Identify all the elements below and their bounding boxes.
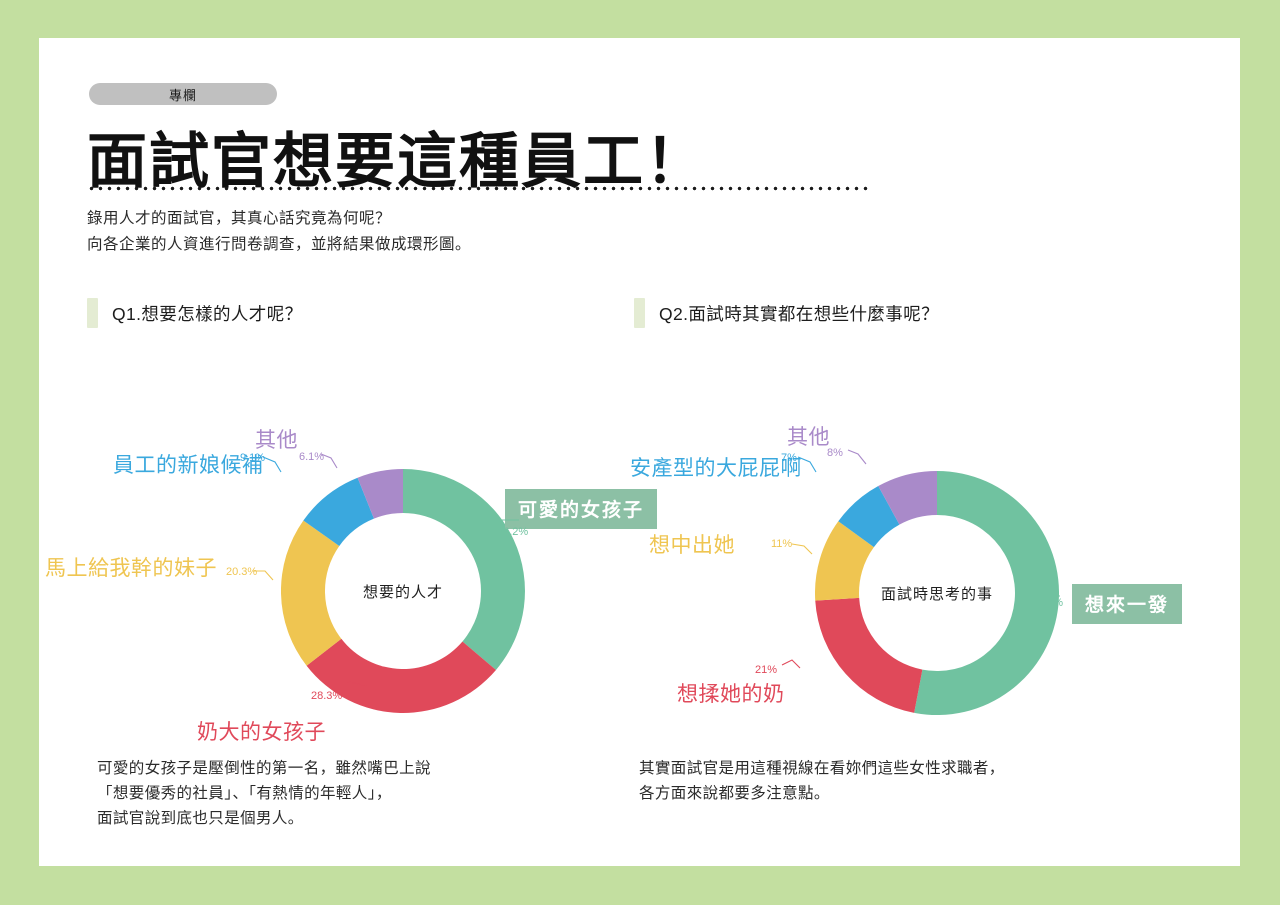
dotted-divider <box>87 186 871 191</box>
content-card: 專欄 面試官想要這種員工！ 錄用人才的面試官，其真心話究竟為何呢？ 向各企業的人… <box>39 38 1240 866</box>
caption-q2-line-2: 各方面來說都要多注意點。 <box>639 781 1005 806</box>
leader-lines-q2 <box>594 368 1194 788</box>
question-heading-q2: Q2.面試時其實都在想些什麼事呢？ <box>634 298 939 328</box>
caption-q2-line-1: 其實面試官是用這種視線在看妳們這些女性求職者， <box>639 756 1005 781</box>
page-background: 專欄 面試官想要這種員工！ 錄用人才的面試官，其真心話究竟為何呢？ 向各企業的人… <box>0 0 1280 905</box>
category-tag: 專欄 <box>89 83 277 105</box>
category-tag-label: 專欄 <box>169 85 197 104</box>
caption-q1-line-1: 可愛的女孩子是壓倒性的第一名，雖然嘴巴上說 <box>97 756 431 781</box>
caption-q1: 可愛的女孩子是壓倒性的第一名，雖然嘴巴上說 「想要優秀的社員」、「有熱情的年輕人… <box>97 756 431 831</box>
accent-bar-icon <box>634 298 645 328</box>
lede-line-2: 向各企業的人資進行問卷調查，並將結果做成環形圖。 <box>87 232 471 258</box>
chart-panel-q1: 想要的人才 其他 員工的新娘候補 馬上給我幹的妹子 奶大的女孩子 可愛的女孩子 … <box>49 368 649 788</box>
caption-q1-line-3: 面試官說到底也只是個男人。 <box>97 806 431 831</box>
leader-lines-q1 <box>49 368 649 788</box>
caption-q2: 其實面試官是用這種視線在看妳們這些女性求職者， 各方面來說都要多注意點。 <box>639 756 1005 806</box>
lede-paragraph: 錄用人才的面試官，其真心話究竟為何呢？ 向各企業的人資進行問卷調查，並將結果做成… <box>87 206 471 258</box>
accent-bar-icon <box>87 298 98 328</box>
question-heading-q1-label: Q1.想要怎樣的人才呢？ <box>112 301 303 326</box>
question-heading-q2-label: Q2.面試時其實都在想些什麼事呢？ <box>659 301 939 326</box>
lede-line-1: 錄用人才的面試官，其真心話究竟為何呢？ <box>87 206 471 232</box>
caption-q1-line-2: 「想要優秀的社員」、「有熱情的年輕人」， <box>97 781 431 806</box>
chart-panel-q2: 面試時思考的事 其他 安產型的大屁屁啊 想中出她 想揉她的奶 想來一發 53% … <box>594 368 1194 788</box>
question-heading-q1: Q1.想要怎樣的人才呢？ <box>87 298 303 328</box>
